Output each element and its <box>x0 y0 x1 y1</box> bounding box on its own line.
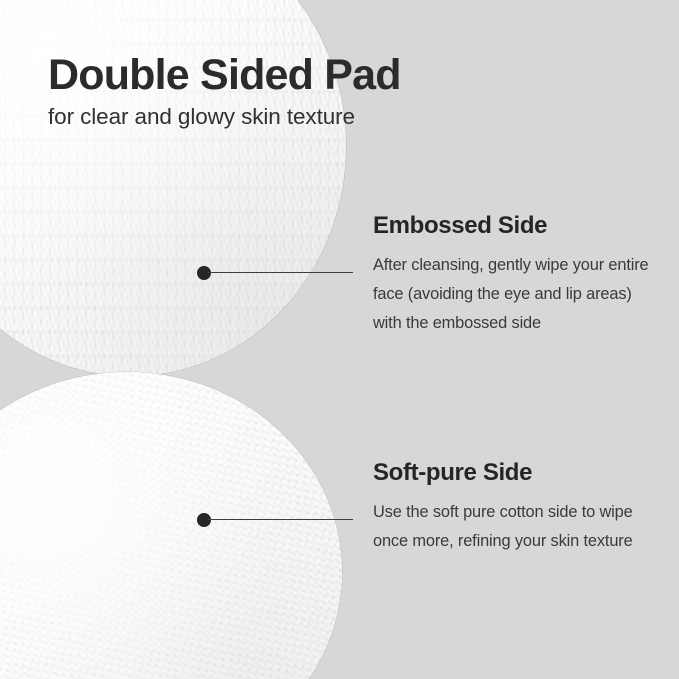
page-title: Double Sided Pad <box>48 52 518 98</box>
info-heading-embossed: Embossed Side <box>373 212 653 240</box>
info-block-embossed: Embossed Side After cleansing, gently wi… <box>373 212 653 338</box>
soft-pure-cotton-pad-image <box>0 372 342 679</box>
page-subtitle: for clear and glowy skin texture <box>48 104 518 130</box>
callout-leader-line-soft <box>208 519 353 520</box>
info-block-soft: Soft-pure Side Use the soft pure cotton … <box>373 459 653 556</box>
headline-block: Double Sided Pad for clear and glowy ski… <box>48 52 518 130</box>
infographic-canvas: Double Sided Pad for clear and glowy ski… <box>0 0 679 679</box>
callout-leader-line-embossed <box>208 272 353 273</box>
info-heading-soft: Soft-pure Side <box>373 459 653 487</box>
info-body-soft: Use the soft pure cotton side to wipe on… <box>373 498 653 556</box>
info-body-embossed: After cleansing, gently wipe your entire… <box>373 251 653 339</box>
soft-texture-shading <box>0 372 342 679</box>
